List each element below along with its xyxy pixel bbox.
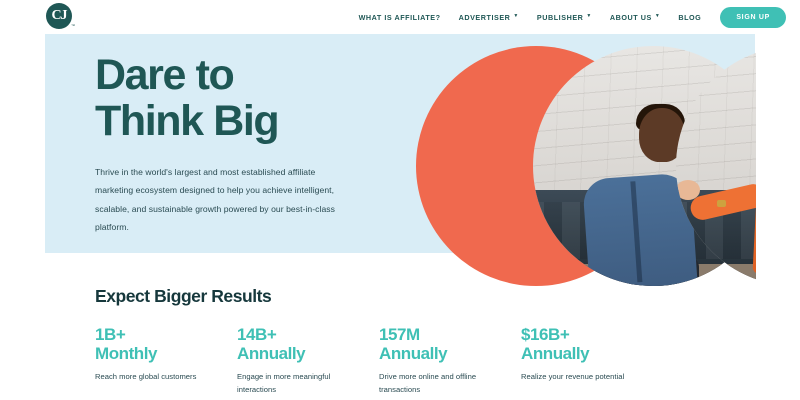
nav-item-blog[interactable]: BLOG (669, 13, 710, 22)
hero-paragraph: Thrive in the world's largest and most e… (95, 163, 340, 237)
hero-content: Dare to Think Big Thrive in the world's … (95, 52, 375, 237)
nav-label: ADVERTISER (459, 13, 511, 22)
stat-item: 1B+ Monthly Reach more global customers (95, 325, 215, 396)
logo-monogram: CJ (51, 9, 66, 23)
stat-number: $16B+ (521, 325, 641, 344)
chevron-down-icon: ▼ (586, 14, 592, 19)
stat-description: Drive more online and offline transactio… (379, 370, 499, 396)
stat-period: Annually (521, 344, 641, 363)
nav-item-about-us[interactable]: ABOUT US ▼ (601, 13, 669, 22)
nav-item-what-is-affiliate[interactable]: WHAT IS AFFILIATE? (350, 13, 450, 22)
stat-description: Engage in more meaningful interactions (237, 370, 357, 396)
stat-period: Annually (237, 344, 357, 363)
nav-label: PUBLISHER (537, 13, 583, 22)
site-header: CJ ™ WHAT IS AFFILIATE? ADVERTISER ▼ PUB… (0, 0, 800, 34)
sign-up-button[interactable]: SIGN UP (720, 7, 786, 28)
wristwatch (717, 200, 726, 207)
photo-circle-right (676, 46, 756, 286)
nav-label: WHAT IS AFFILIATE? (359, 13, 441, 22)
stat-number: 1B+ (95, 325, 215, 344)
stat-number: 157M (379, 325, 499, 344)
nav-item-advertiser[interactable]: ADVERTISER ▼ (450, 13, 528, 22)
nav-label: BLOG (678, 13, 701, 22)
hero-title-line-1: Dare to (95, 51, 233, 99)
nav-item-publisher[interactable]: PUBLISHER ▼ (528, 13, 601, 22)
hero-graphic (410, 40, 756, 290)
floor (676, 264, 756, 286)
chevron-down-icon: ▼ (655, 14, 661, 19)
results-title: Expect Bigger Results (95, 286, 715, 307)
results-section: Expect Bigger Results 1B+ Monthly Reach … (95, 286, 715, 396)
logo[interactable]: CJ ™ (46, 3, 72, 29)
chevron-down-icon: ▼ (513, 14, 519, 19)
stats-row: 1B+ Monthly Reach more global customers … (95, 325, 715, 396)
stat-item: 157M Annually Drive more online and offl… (379, 325, 499, 396)
stat-description: Reach more global customers (95, 370, 215, 383)
stat-period: Annually (379, 344, 499, 363)
main-nav: WHAT IS AFFILIATE? ADVERTISER ▼ PUBLISHE… (350, 0, 786, 34)
cj-logo-icon: CJ (46, 3, 72, 29)
stat-item: $16B+ Annually Realize your revenue pote… (521, 325, 641, 396)
hero-title: Dare to Think Big (95, 52, 375, 145)
landing-page: CJ ™ WHAT IS AFFILIATE? ADVERTISER ▼ PUB… (0, 0, 800, 400)
stat-period: Monthly (95, 344, 215, 363)
hero-title-line-2: Think Big (95, 97, 278, 145)
stat-description: Realize your revenue potential (521, 370, 641, 383)
logo-trademark: ™ (71, 23, 75, 28)
stat-item: 14B+ Annually Engage in more meaningful … (237, 325, 357, 396)
stat-number: 14B+ (237, 325, 357, 344)
nav-label: ABOUT US (610, 13, 652, 22)
